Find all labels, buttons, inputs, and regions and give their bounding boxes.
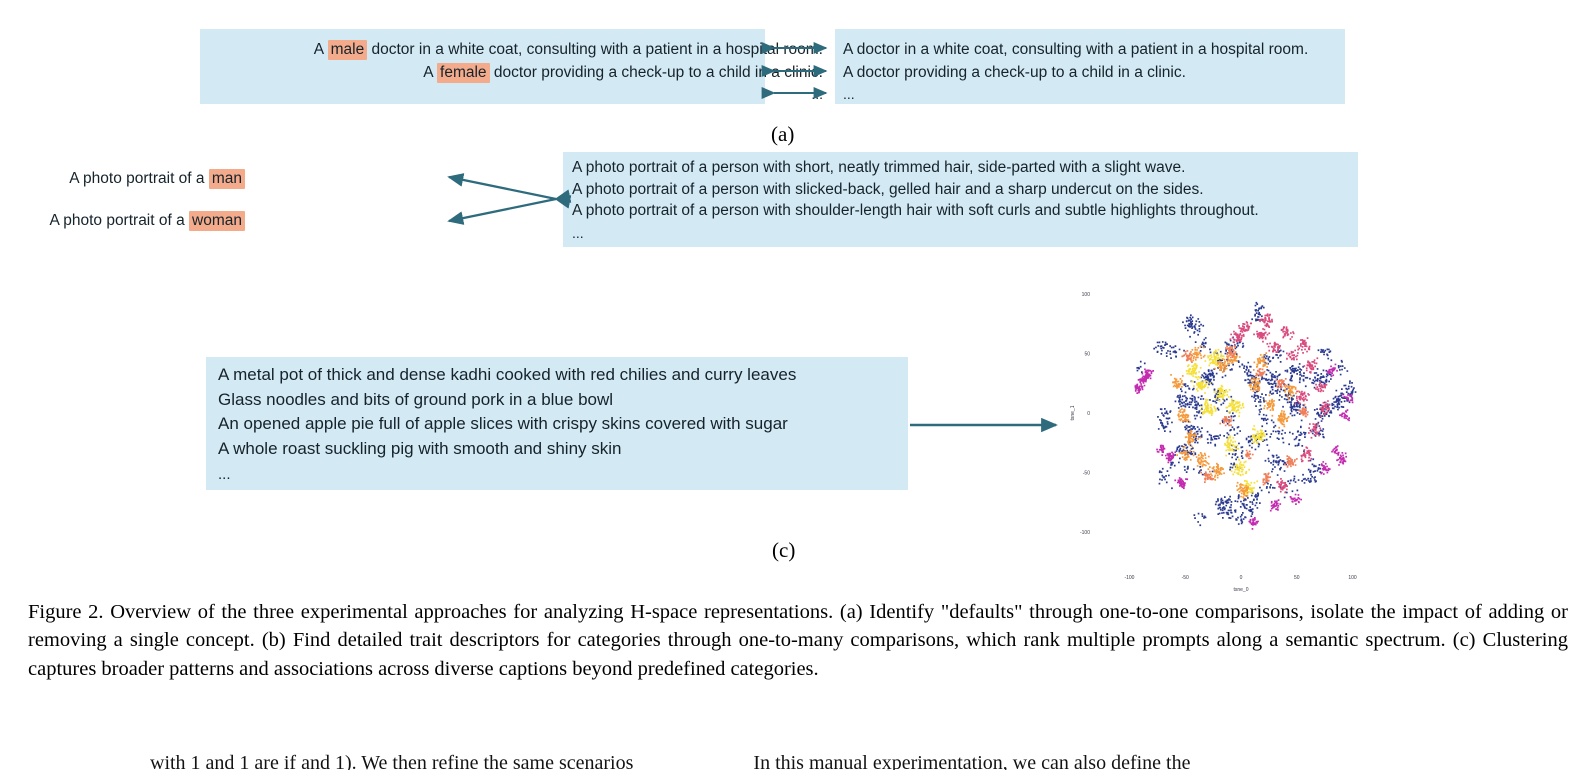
- tsne-ytick-2: 0: [1087, 411, 1090, 417]
- body-col-left: with 1 and 1 are if and 1). We then refi…: [150, 752, 633, 770]
- panel-c-line-2: Glass noodles and bits of ground pork in…: [218, 391, 613, 408]
- figure-root: A male doctor in a white coat, consultin…: [0, 0, 1595, 770]
- panel-b-right-line-1: A photo portrait of a person with short,…: [572, 160, 1185, 176]
- text-suffix: doctor providing a check-up to a child i…: [490, 64, 823, 81]
- panel-b-left-line-2: A photo portrait of a woman: [49, 213, 245, 229]
- tsne-ytick-0: -100: [1080, 530, 1090, 536]
- panel-b-arrow-man: [449, 177, 556, 199]
- highlight-woman: woman: [189, 211, 245, 231]
- body-col-right: In this manual experimentation, we can a…: [753, 752, 1190, 770]
- panel-label-c: (c): [772, 538, 795, 563]
- panel-b-right-line-2: A photo portrait of a person with slicke…: [572, 182, 1204, 198]
- tsne-xtick-1: -50: [1182, 575, 1189, 581]
- page-body-text-partial: with 1 and 1 are if and 1). We then refi…: [150, 752, 1450, 770]
- text-prefix: A photo portrait of a: [49, 212, 189, 229]
- highlight-male: male: [328, 40, 368, 60]
- panel-a-left-line-1: A male doctor in a white coat, consultin…: [314, 42, 823, 58]
- tsne-ylabel: tsne_1: [1070, 405, 1076, 420]
- panel-a-right-line-2: A doctor providing a check-up to a child…: [843, 65, 1186, 81]
- tsne-ytick-3: 50: [1084, 351, 1090, 357]
- tsne-axes: -100-50050100-100-50050100tsne_0tsne_1: [1070, 292, 1357, 593]
- text-prefix: A photo portrait of a: [69, 170, 209, 187]
- figure-caption: Figure 2. Overview of the three experime…: [28, 598, 1568, 683]
- tsne-ytick-4: 100: [1082, 292, 1091, 298]
- highlight-female: female: [437, 63, 490, 83]
- tsne-xtick-4: 100: [1348, 575, 1357, 581]
- panel-a-right-line-1: A doctor in a white coat, consulting wit…: [843, 42, 1308, 58]
- tsne-svg: -100-50050100-100-50050100tsne_0tsne_1: [1060, 250, 1390, 595]
- tsne-xtick-2: 0: [1240, 575, 1243, 581]
- panel-b-left-line-1: A photo portrait of a man: [69, 171, 245, 187]
- panel-b-right-line-4: ...: [572, 226, 584, 240]
- panel-c-line-5: ...: [218, 467, 231, 482]
- panel-c-line-4: A whole roast suckling pig with smooth a…: [218, 440, 621, 457]
- panel-c-line-1: A metal pot of thick and dense kadhi coo…: [218, 366, 796, 383]
- panel-label-a: (a): [771, 122, 794, 147]
- panel-a-right-line-3: ...: [843, 87, 855, 101]
- text-suffix: doctor in a white coat, consulting with …: [367, 41, 823, 58]
- highlight-man: man: [209, 169, 245, 189]
- panel-a-left-line-3: ...: [811, 87, 823, 101]
- text-prefix: A: [423, 64, 437, 81]
- tsne-xtick-0: -100: [1124, 575, 1134, 581]
- tsne-point-cloud: [1135, 302, 1357, 530]
- panel-b-right-line-3: A photo portrait of a person with should…: [572, 203, 1259, 219]
- tsne-ytick-1: -50: [1083, 471, 1090, 477]
- panel-b-arrow-woman: [449, 199, 556, 221]
- tsne-scatter-plot: -100-50050100-100-50050100tsne_0tsne_1: [1060, 250, 1390, 595]
- text-prefix: A: [314, 41, 328, 58]
- tsne-xtick-3: 50: [1294, 575, 1300, 581]
- panel-a-left-line-2: A female doctor providing a check-up to …: [423, 65, 823, 81]
- tsne-xlabel: tsne_0: [1233, 587, 1248, 593]
- panel-c-line-3: An opened apple pie full of apple slices…: [218, 415, 788, 432]
